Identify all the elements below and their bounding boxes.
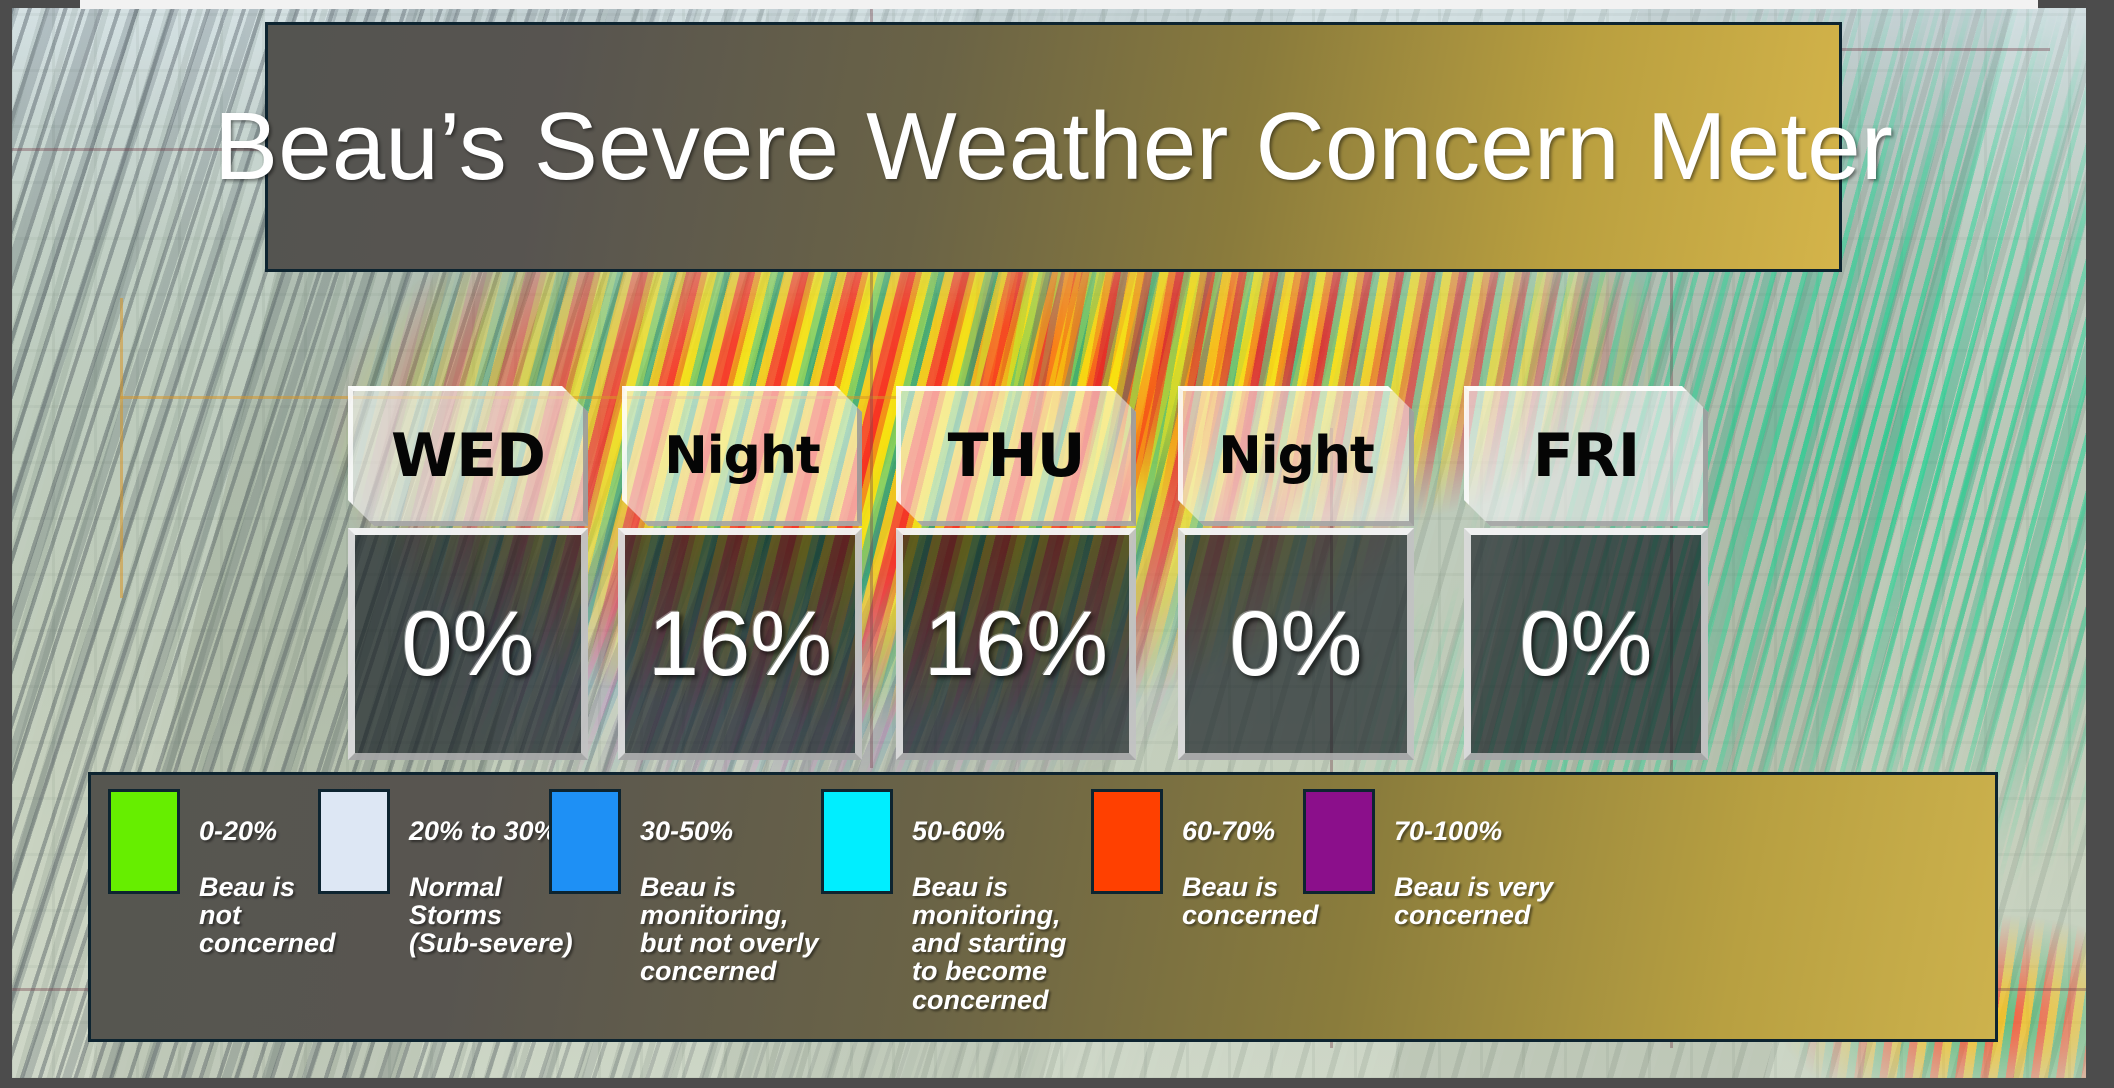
legend-swatch-3	[821, 789, 893, 894]
percent-value-3: 0%	[1230, 598, 1363, 690]
legend-swatch-1	[318, 789, 390, 894]
percent-box-4[interactable]: 0%	[1464, 528, 1708, 760]
day-label-2: THU	[948, 421, 1085, 491]
day-label-0: WED	[391, 421, 545, 491]
concern-legend-panel: 0-20% Beau is not concerned 20% to 30% N…	[88, 772, 1998, 1042]
legend-desc-2: Beau is monitoring, but not overly conce…	[640, 872, 819, 986]
legend-item-2[interactable]: 30-50% Beau is monitoring, but not overl…	[549, 789, 849, 986]
day-label-box-1[interactable]: Night	[622, 386, 862, 526]
county-line	[120, 298, 123, 598]
frame-left-border	[0, 0, 12, 1088]
legend-text-4: 60-70% Beau is concerned	[1182, 789, 1319, 929]
legend-desc-3: Beau is monitoring, and starting to beco…	[912, 872, 1067, 1014]
legend-desc-4: Beau is concerned	[1182, 872, 1319, 930]
legend-range-3: 50-60%	[912, 816, 1005, 846]
legend-item-5[interactable]: 70-100% Beau is very concerned	[1303, 789, 1603, 929]
frame-top-strip	[80, 0, 2038, 9]
percent-value-2: 16%	[924, 598, 1108, 690]
legend-item-3[interactable]: 50-60% Beau is monitoring, and starting …	[821, 789, 1121, 1014]
legend-range-2: 30-50%	[640, 816, 733, 846]
legend-text-5: 70-100% Beau is very concerned	[1394, 789, 1553, 929]
percent-box-2[interactable]: 16%	[896, 528, 1136, 760]
legend-desc-5: Beau is very concerned	[1394, 872, 1553, 930]
legend-range-1: 20% to 30%	[409, 816, 558, 846]
title-banner: Beau’s Severe Weather Concern Meter	[265, 22, 1842, 272]
day-label-3: Night	[1218, 426, 1373, 486]
legend-desc-0: Beau is not concerned	[199, 872, 336, 958]
frame-right-border	[2086, 0, 2114, 1088]
legend-text-0: 0-20% Beau is not concerned	[199, 789, 336, 957]
percent-box-1[interactable]: 16%	[618, 528, 862, 760]
legend-range-5: 70-100%	[1394, 816, 1502, 846]
day-label-box-0[interactable]: WED	[348, 386, 588, 526]
day-label-1: Night	[664, 426, 819, 486]
legend-swatch-2	[549, 789, 621, 894]
frame-bottom-border	[0, 1078, 2114, 1088]
day-label-4: FRI	[1533, 421, 1640, 491]
day-label-box-2[interactable]: THU	[896, 386, 1136, 526]
percent-value-1: 16%	[648, 598, 832, 690]
legend-text-2: 30-50% Beau is monitoring, but not overl…	[640, 789, 819, 986]
legend-range-4: 60-70%	[1182, 816, 1275, 846]
legend-swatch-5	[1303, 789, 1375, 894]
percent-box-0[interactable]: 0%	[348, 528, 588, 760]
legend-text-3: 50-60% Beau is monitoring, and starting …	[912, 789, 1067, 1014]
percent-value-0: 0%	[402, 598, 535, 690]
percent-value-4: 0%	[1520, 598, 1653, 690]
legend-range-0: 0-20%	[199, 816, 277, 846]
percent-box-3[interactable]: 0%	[1178, 528, 1414, 760]
day-label-box-4[interactable]: FRI	[1464, 386, 1708, 526]
legend-swatch-0	[108, 789, 180, 894]
weather-graphic-slide: Beau’s Severe Weather Concern Meter WED …	[0, 0, 2114, 1088]
legend-swatch-4	[1091, 789, 1163, 894]
page-title: Beau’s Severe Weather Concern Meter	[214, 92, 1893, 202]
day-label-box-3[interactable]: Night	[1178, 386, 1414, 526]
